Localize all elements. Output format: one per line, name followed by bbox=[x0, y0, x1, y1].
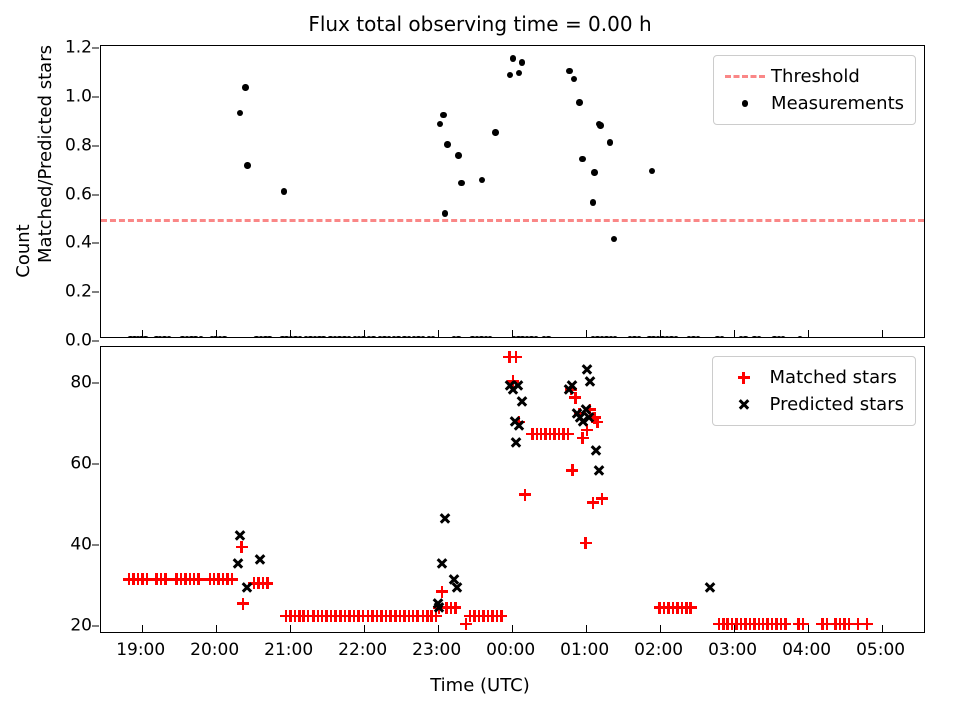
data-point-marker bbox=[437, 121, 444, 128]
xtick-mark bbox=[660, 330, 661, 337]
data-point-marker bbox=[221, 336, 228, 338]
data-point-marker bbox=[492, 129, 499, 136]
xtick-label: 22:00 bbox=[338, 641, 387, 659]
xtick-mark bbox=[808, 625, 809, 632]
ytick-mark bbox=[92, 625, 99, 626]
xtick-mark bbox=[734, 330, 735, 337]
data-point-marker bbox=[420, 336, 427, 338]
xtick-label: 20:00 bbox=[190, 641, 239, 659]
data-point-marker bbox=[510, 55, 517, 62]
xtick-mark bbox=[438, 625, 439, 632]
data-point-marker bbox=[607, 139, 614, 146]
data-point-marker bbox=[244, 162, 251, 169]
data-point-marker bbox=[516, 70, 523, 77]
data-point-marker bbox=[166, 336, 173, 338]
threshold-dash-icon bbox=[723, 66, 767, 88]
top-panel-legend: Threshold Measurements bbox=[713, 55, 916, 125]
data-point-marker bbox=[346, 336, 353, 338]
ytick-label: 0.6 bbox=[65, 186, 92, 203]
data-point-marker bbox=[455, 336, 462, 338]
data-point-marker bbox=[591, 169, 598, 176]
ytick-label: 40 bbox=[70, 537, 92, 554]
data-point-marker bbox=[576, 99, 583, 106]
data-point-marker bbox=[281, 188, 288, 195]
data-point-marker bbox=[237, 110, 244, 117]
xtick-mark bbox=[438, 330, 439, 337]
ytick-label: 0.2 bbox=[65, 284, 92, 301]
data-point-marker bbox=[266, 336, 273, 338]
data-point-marker bbox=[719, 336, 726, 338]
ytick-mark bbox=[92, 292, 99, 293]
data-point-marker bbox=[242, 84, 249, 91]
matched-plus-icon bbox=[722, 367, 766, 389]
ytick-mark bbox=[92, 194, 99, 195]
data-point-marker bbox=[611, 236, 618, 243]
xtick-mark bbox=[512, 625, 513, 632]
data-point-marker bbox=[590, 199, 597, 206]
ytick-mark bbox=[92, 464, 99, 465]
data-point-marker bbox=[742, 336, 749, 338]
xtick-mark bbox=[586, 330, 587, 337]
data-point-marker bbox=[533, 336, 540, 338]
legend-label-matched-stars: Matched stars bbox=[766, 368, 897, 388]
xtick-label: 04:00 bbox=[782, 641, 831, 659]
xtick-mark bbox=[882, 330, 883, 337]
data-point-marker bbox=[440, 112, 447, 119]
figure-canvas: Flux total observing time = 0.00 h 0.00.… bbox=[0, 0, 960, 720]
legend-entry-matched-stars: Matched stars bbox=[722, 364, 904, 391]
ytick-label: 0.8 bbox=[65, 137, 92, 154]
data-point-marker bbox=[370, 336, 377, 338]
data-point-marker bbox=[198, 336, 205, 338]
predicted-cross-icon bbox=[722, 394, 766, 416]
ytick-mark bbox=[92, 341, 99, 342]
data-point-marker bbox=[579, 156, 586, 163]
measurements-dot-icon bbox=[723, 93, 767, 115]
ytick-mark bbox=[92, 145, 99, 146]
bottom-panel-ytick-column: 20406080 bbox=[0, 346, 92, 633]
ytick-label: 20 bbox=[70, 617, 92, 634]
xtick-mark bbox=[660, 625, 661, 632]
data-point-marker bbox=[430, 336, 437, 338]
xtick-mark bbox=[882, 625, 883, 632]
data-point-marker bbox=[756, 336, 763, 338]
xtick-mark bbox=[290, 330, 291, 337]
legend-label-measurements: Measurements bbox=[767, 94, 904, 114]
xaxis-label: Time (UTC) bbox=[0, 676, 960, 696]
data-point-marker bbox=[612, 336, 619, 338]
data-point-marker bbox=[797, 336, 804, 338]
ytick-mark bbox=[92, 243, 99, 244]
xtick-mark bbox=[142, 625, 143, 632]
ytick-mark bbox=[92, 96, 99, 97]
data-point-marker bbox=[695, 336, 702, 338]
data-point-marker bbox=[455, 152, 462, 159]
top-panel-axes: Threshold Measurements bbox=[100, 45, 925, 338]
xtick-label: 00:00 bbox=[486, 641, 535, 659]
xtick-label: 19:00 bbox=[116, 641, 165, 659]
xtick-mark bbox=[808, 330, 809, 337]
xtick-label: 01:00 bbox=[560, 641, 609, 659]
xtick-mark bbox=[216, 625, 217, 632]
xtick-mark bbox=[364, 625, 365, 632]
data-point-marker bbox=[444, 141, 451, 148]
xtick-label: 03:00 bbox=[708, 641, 757, 659]
top-panel-ylabel: Matched/Predicted stars bbox=[37, 4, 55, 304]
data-point-marker bbox=[519, 59, 526, 66]
data-point-marker bbox=[442, 210, 449, 217]
xtick-mark bbox=[586, 625, 587, 632]
ytick-mark bbox=[92, 545, 99, 546]
data-point-marker bbox=[479, 177, 486, 184]
xtick-label: 02:00 bbox=[634, 641, 683, 659]
legend-label-predicted-stars: Predicted stars bbox=[766, 395, 904, 415]
bottom-panel-axes: Matched stars Predicted stars bbox=[100, 346, 925, 633]
data-point-marker bbox=[566, 68, 573, 75]
data-point-marker bbox=[636, 336, 643, 338]
xtick-mark bbox=[512, 330, 513, 337]
data-point-marker bbox=[320, 336, 327, 338]
ytick-label: 80 bbox=[70, 375, 92, 392]
figure-title: Flux total observing time = 0.00 h bbox=[0, 12, 960, 36]
xtick-mark bbox=[364, 330, 365, 337]
data-point-marker bbox=[649, 168, 656, 175]
data-point-marker bbox=[487, 336, 494, 338]
bottom-panel-ylabel: Count bbox=[15, 141, 33, 361]
data-point-marker bbox=[597, 122, 604, 129]
data-point-marker bbox=[673, 336, 680, 338]
legend-label-threshold: Threshold bbox=[767, 67, 860, 87]
xtick-label: 05:00 bbox=[856, 641, 905, 659]
data-point-marker bbox=[142, 336, 149, 338]
xtick-label: 23:00 bbox=[412, 641, 461, 659]
ytick-label: 60 bbox=[70, 456, 92, 473]
data-point-marker bbox=[571, 76, 578, 83]
data-point-marker bbox=[545, 336, 552, 338]
data-point-marker bbox=[458, 180, 465, 187]
threshold-line bbox=[101, 219, 924, 222]
data-point-marker bbox=[507, 72, 514, 79]
xtick-mark bbox=[290, 625, 291, 632]
ytick-mark bbox=[92, 48, 99, 49]
xtick-mark bbox=[142, 330, 143, 337]
xtick-mark bbox=[734, 625, 735, 632]
legend-entry-threshold: Threshold bbox=[723, 63, 904, 90]
data-point-marker bbox=[780, 336, 787, 338]
xtick-mark bbox=[216, 330, 217, 337]
ytick-label: 1.0 bbox=[65, 88, 92, 105]
bottom-panel-legend: Matched stars Predicted stars bbox=[712, 356, 916, 426]
legend-entry-measurements: Measurements bbox=[723, 90, 904, 117]
ytick-mark bbox=[92, 383, 99, 384]
ytick-label: 1.2 bbox=[65, 40, 92, 57]
legend-entry-predicted-stars: Predicted stars bbox=[722, 391, 904, 418]
xtick-label: 21:00 bbox=[264, 641, 313, 659]
ytick-label: 0.4 bbox=[65, 235, 92, 252]
